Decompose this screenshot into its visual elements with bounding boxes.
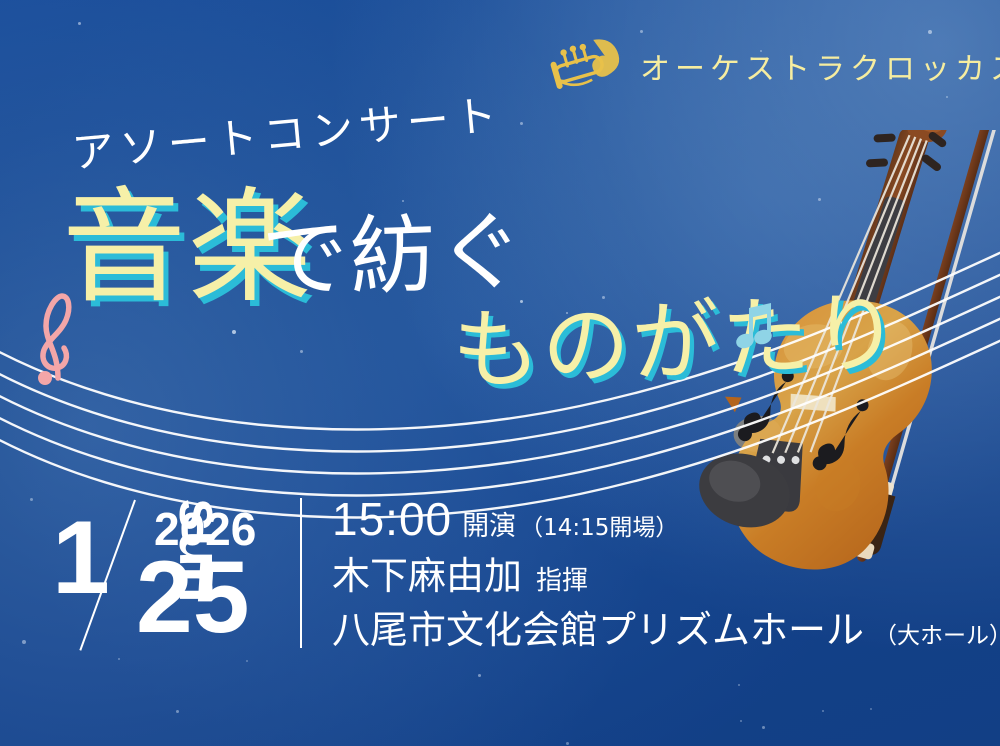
star-dot <box>118 658 120 660</box>
trumpet-icon <box>540 36 624 96</box>
star-dot <box>738 684 740 686</box>
star-dot <box>246 660 248 662</box>
star-dot <box>640 30 643 33</box>
star-dot <box>300 350 303 353</box>
star-dot <box>22 640 26 644</box>
star-dot <box>946 96 948 98</box>
concert-subtitle: アソートコンサート <box>69 81 505 181</box>
star-dot <box>520 122 523 125</box>
venue-hall: （大ホール） <box>874 616 1000 650</box>
star-dot <box>566 742 569 745</box>
open-note: （14:15開場） <box>520 508 678 542</box>
band-header: オーケストラクロッカス <box>540 36 1000 96</box>
venue-row: 八尾市文化会館プリズムホール （大ホール） <box>332 611 1000 650</box>
concert-poster: オーケストラクロッカス アソートコンサート 音楽 で紡ぐ ものがたり 1 202… <box>0 0 1000 746</box>
star-dot <box>928 30 932 34</box>
star-dot <box>762 726 765 729</box>
star-dot <box>740 720 742 722</box>
event-date: 1 2026 25 sun <box>48 492 296 652</box>
star-dot <box>232 330 236 334</box>
star-dot <box>78 22 81 25</box>
date-weekday: sun <box>170 498 230 602</box>
star-dot <box>176 710 179 713</box>
start-time: 15:00 <box>332 496 452 542</box>
start-label: 開演 <box>462 504 516 543</box>
event-info: 1 2026 25 sun 15:00 開演 （14:15開場） 木下麻由加 指… <box>48 492 1000 652</box>
eighth-note-pair-icon <box>736 300 778 352</box>
conductor-row: 木下麻由加 指揮 <box>332 557 1000 597</box>
band-name: オーケストラクロッカス <box>640 44 1000 88</box>
conductor-name: 木下麻由加 <box>332 557 522 595</box>
info-divider <box>300 498 302 648</box>
star-dot <box>478 674 481 677</box>
star-dot <box>30 498 33 501</box>
event-details: 15:00 開演 （14:15開場） 木下麻由加 指揮 八尾市文化会館プリズムホ… <box>332 492 1000 650</box>
venue-name: 八尾市文化会館プリズムホール <box>332 611 864 649</box>
main-title-part3: ものがたり <box>450 288 903 396</box>
main-title-part2: で紡ぐ <box>260 209 527 304</box>
star-dot <box>822 710 824 712</box>
star-dot <box>402 200 404 202</box>
conductor-role: 指揮 <box>536 560 588 597</box>
star-dot <box>870 708 872 710</box>
time-row: 15:00 開演 （14:15開場） <box>332 496 1000 543</box>
